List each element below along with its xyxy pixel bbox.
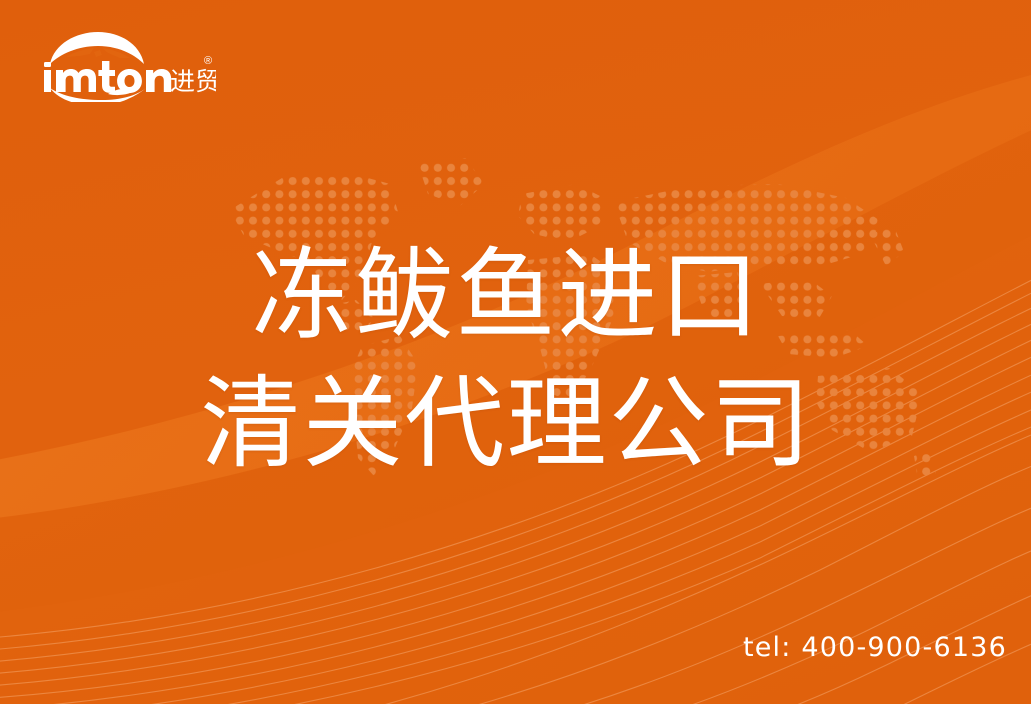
brand-logo[interactable]: 进贸通 ® <box>36 30 216 102</box>
logo-trademark-symbol: ® <box>204 55 212 67</box>
headline-line-1: 冻鲅鱼进口 <box>0 232 1013 360</box>
telephone-number: tel: 400-900-6136 <box>743 632 1007 663</box>
logo-chinese-name: 进贸通 <box>170 68 216 96</box>
brand-logo-graphic: 进贸通 ® <box>36 30 216 102</box>
promo-banner: 进贸通 ® 冻鲅鱼进口 清关代理公司 tel: 400-900-6136 <box>0 0 1031 704</box>
logo-wordmark <box>44 61 171 93</box>
globe-icon <box>50 32 144 64</box>
headline-line-2: 清关代理公司 <box>0 360 1013 488</box>
headline: 冻鲅鱼进口 清关代理公司 <box>0 232 1031 488</box>
